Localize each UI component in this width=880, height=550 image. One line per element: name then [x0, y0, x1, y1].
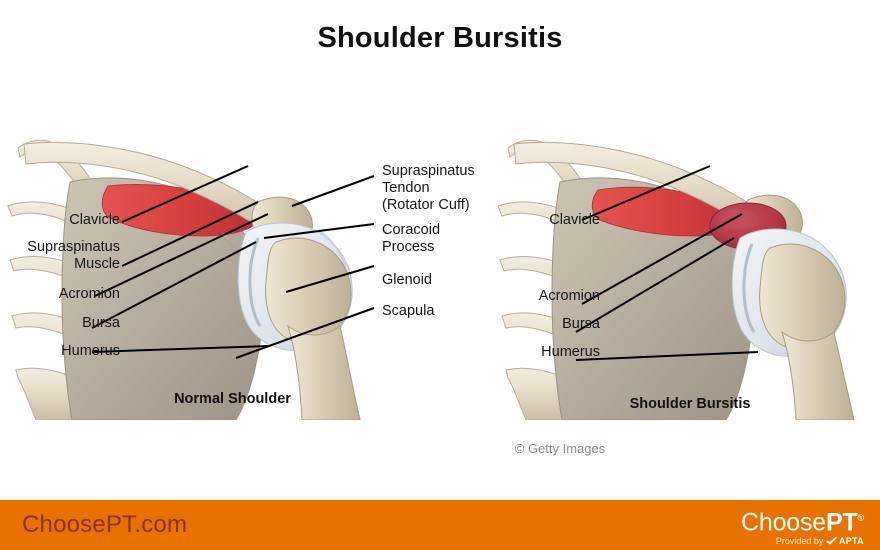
leader-supraspinatus-tendon	[292, 176, 374, 206]
logo-pt-text: PT	[826, 508, 858, 536]
label-clavicle-left: Clavicle	[20, 212, 120, 229]
apta-swoosh-icon	[826, 537, 838, 548]
label-scapula: Scapula	[382, 303, 434, 320]
image-credit: © Getty Images	[430, 441, 690, 456]
page-title: Shoulder Bursitis	[0, 22, 880, 55]
label-bursa-right: Bursa	[500, 316, 600, 333]
label-coracoid-process: Coracoid Process	[382, 222, 440, 256]
provided-by-text: Provided by	[776, 536, 824, 546]
apta-text: APTA	[839, 536, 864, 546]
label-clavicle-right: Clavicle	[500, 212, 600, 229]
label-acromion-right: Acromion	[500, 288, 600, 305]
logo-trademark-symbol: ®	[858, 513, 864, 523]
label-bursa-left: Bursa	[20, 315, 120, 332]
label-humerus-right: Humerus	[490, 344, 600, 361]
footer-website-link[interactable]: ChoosePT.com	[22, 511, 187, 539]
page-root: Shoulder Bursitis	[0, 0, 880, 550]
logo-provided-by-line: Provided by APTA	[741, 536, 864, 548]
label-acromion-left: Acromion	[20, 286, 120, 303]
choosept-logo[interactable]: ChoosePT® Provided by APTA	[741, 505, 864, 548]
logo-choose-text: Choose	[741, 508, 826, 536]
label-humerus-left: Humerus	[10, 343, 120, 360]
label-glenoid: Glenoid	[382, 272, 432, 289]
label-supraspinatus-tendon: Supraspinatus Tendon (Rotator Cuff)	[382, 163, 475, 214]
caption-normal-shoulder: Normal Shoulder	[120, 391, 345, 407]
shoulder-bursitis-illustration	[490, 120, 880, 420]
footer-bar: ChoosePT.com ChoosePT® Provided by APTA	[0, 500, 880, 550]
label-supraspinatus-muscle-left: Supraspinatus Muscle	[0, 239, 120, 273]
caption-shoulder-bursitis: Shoulder Bursitis	[580, 396, 800, 412]
figure-shoulder-bursitis	[490, 120, 880, 420]
choosept-logo-wordmark: ChoosePT®	[741, 505, 864, 535]
